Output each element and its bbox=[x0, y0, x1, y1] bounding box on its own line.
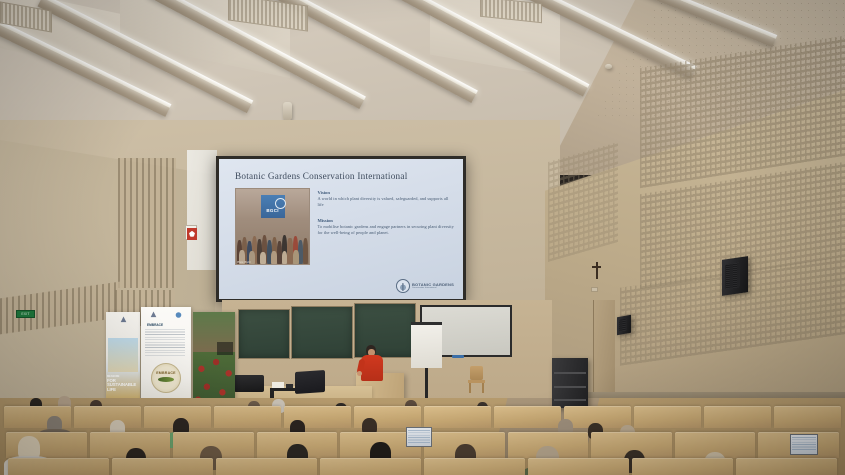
seat[interactable] bbox=[216, 458, 317, 475]
perforated-acoustic-panel bbox=[548, 142, 618, 262]
banner-sustainable-life: MEASURE FOR SUSTAINABLE LIFE bbox=[106, 312, 140, 408]
seat[interactable] bbox=[528, 458, 629, 475]
project-seal: EMBRACE bbox=[151, 363, 181, 393]
slide-title: Botanic Gardens Conservation Internation… bbox=[235, 171, 454, 181]
banner-image bbox=[108, 338, 138, 372]
bgci-logo: BOTANIC GARDENS Conservation Internation… bbox=[396, 279, 454, 293]
seat[interactable] bbox=[704, 406, 771, 428]
wall-speaker bbox=[617, 315, 631, 335]
partner-logo-icon bbox=[175, 311, 182, 319]
audience-laptop[interactable] bbox=[790, 434, 818, 455]
banner-title-main: FOR SUSTAINABLE LIFE bbox=[107, 378, 136, 392]
banner-title: MEASURE FOR SUSTAINABLE LIFE bbox=[107, 376, 139, 392]
institution-logo-icon bbox=[120, 316, 127, 324]
banner-body-text bbox=[145, 329, 185, 357]
equipment-case bbox=[234, 375, 264, 392]
photo-inner-screen: BGCI bbox=[261, 195, 285, 218]
whiteboard-marker[interactable] bbox=[452, 355, 464, 358]
seat[interactable] bbox=[736, 458, 837, 475]
seat-row-3 bbox=[0, 456, 845, 475]
exit-sign-label: EXIT bbox=[21, 312, 29, 316]
presentation-slide: Botanic Gardens Conservation Internation… bbox=[219, 159, 463, 299]
vision-heading: Vision bbox=[318, 190, 454, 195]
seat[interactable] bbox=[112, 458, 213, 475]
chair[interactable] bbox=[468, 366, 485, 392]
logo-line-2: Conservation International bbox=[412, 287, 454, 289]
ceiling-sensor bbox=[605, 64, 612, 69]
audience-laptop[interactable] bbox=[406, 427, 432, 447]
exit-sign: EXIT bbox=[16, 310, 35, 318]
lecture-hall-photo: EXIT Botanic Gardens Conservation Intern… bbox=[0, 0, 845, 475]
seat[interactable] bbox=[774, 406, 841, 428]
lectern-monitor[interactable] bbox=[295, 370, 325, 394]
photo-screen-label: BGCI bbox=[266, 208, 278, 213]
wall-switch-plate[interactable] bbox=[591, 287, 598, 292]
seat[interactable] bbox=[632, 458, 733, 475]
slide-group-photo: BGCI bbox=[235, 188, 310, 265]
banner-embrace: EMBRACE EMBRACE bbox=[141, 307, 191, 408]
seal-label: EMBRACE bbox=[156, 371, 176, 375]
seat[interactable] bbox=[74, 406, 141, 428]
chalkboard-right bbox=[354, 303, 416, 358]
banner-orchard bbox=[193, 312, 235, 408]
smoke-detector bbox=[283, 102, 292, 120]
chalkboard-center bbox=[291, 306, 353, 359]
photo-crowd bbox=[236, 218, 309, 265]
flipchart[interactable] bbox=[411, 322, 442, 368]
seat-row-1 bbox=[0, 404, 845, 428]
seat[interactable] bbox=[320, 458, 421, 475]
window bbox=[187, 150, 217, 270]
wall-speaker bbox=[722, 256, 748, 296]
seat[interactable] bbox=[494, 406, 561, 428]
vision-text: A world in which plant diversity is valu… bbox=[318, 196, 454, 209]
equipment-cabinet bbox=[552, 358, 588, 408]
seat[interactable] bbox=[634, 406, 701, 428]
projection-screen: Botanic Gardens Conservation Internation… bbox=[216, 156, 466, 302]
seat[interactable] bbox=[214, 406, 281, 428]
seat[interactable] bbox=[424, 458, 525, 475]
polish-coat-of-arms-emblem bbox=[185, 225, 197, 240]
slide-text-column: Vision A world in which plant diversity … bbox=[318, 188, 454, 265]
monitor-arm bbox=[272, 388, 296, 391]
photo-caption: Photo: BGCI bbox=[237, 261, 250, 264]
acoustic-slat-panel bbox=[118, 158, 176, 288]
mission-heading: Mission bbox=[318, 218, 454, 223]
institution-logo-icon bbox=[150, 311, 157, 319]
mission-text: To mobilise botanic gardens and engage p… bbox=[318, 224, 454, 237]
seal-insect-icon bbox=[158, 377, 174, 382]
seat[interactable] bbox=[424, 406, 491, 428]
banner-project-name: EMBRACE bbox=[147, 323, 163, 327]
chalkboard-left bbox=[238, 309, 290, 359]
side-door[interactable] bbox=[593, 300, 615, 396]
banner-badge bbox=[217, 342, 233, 355]
bgci-tree-icon bbox=[396, 279, 410, 293]
seat[interactable] bbox=[8, 458, 109, 475]
